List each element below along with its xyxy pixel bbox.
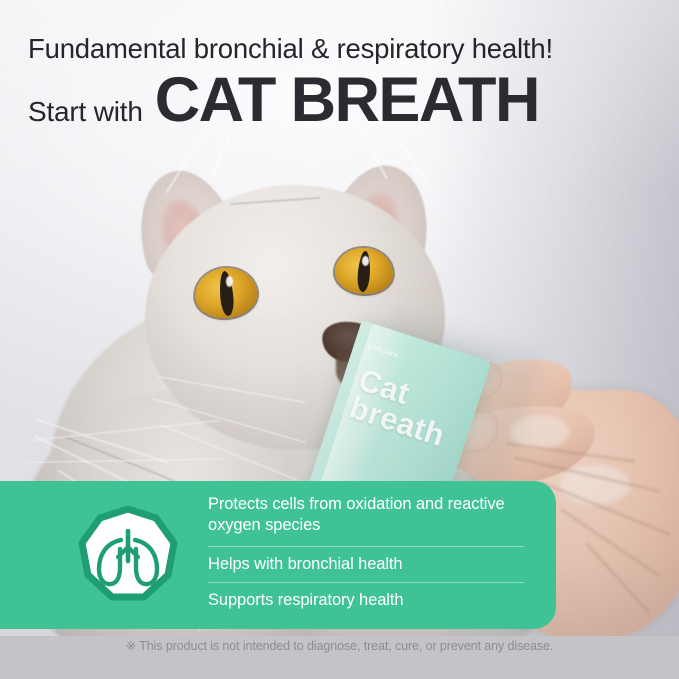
headline-subtitle: Fundamental bronchial & respiratory heal… (28, 34, 668, 64)
benefit-item: Protects cells from oxidation and reacti… (208, 492, 530, 545)
headline-prefix: Start with (28, 96, 143, 128)
benefits-panel: Protects cells from oxidation and reacti… (0, 481, 556, 629)
benefit-item: Helps with bronchial health (208, 547, 530, 582)
lungs-icon (78, 505, 178, 605)
headline-block: Fundamental bronchial & respiratory heal… (28, 34, 668, 132)
product-banner: petcare Cat breath Fundamental bronchial… (0, 0, 679, 679)
headline-brand: CAT BREATH (155, 70, 539, 132)
benefits-list: Protects cells from oxidation and reacti… (208, 492, 556, 617)
legal-disclaimer: ※ This product is not intended to diagno… (0, 638, 679, 653)
benefit-item: Supports respiratory health (208, 583, 530, 618)
